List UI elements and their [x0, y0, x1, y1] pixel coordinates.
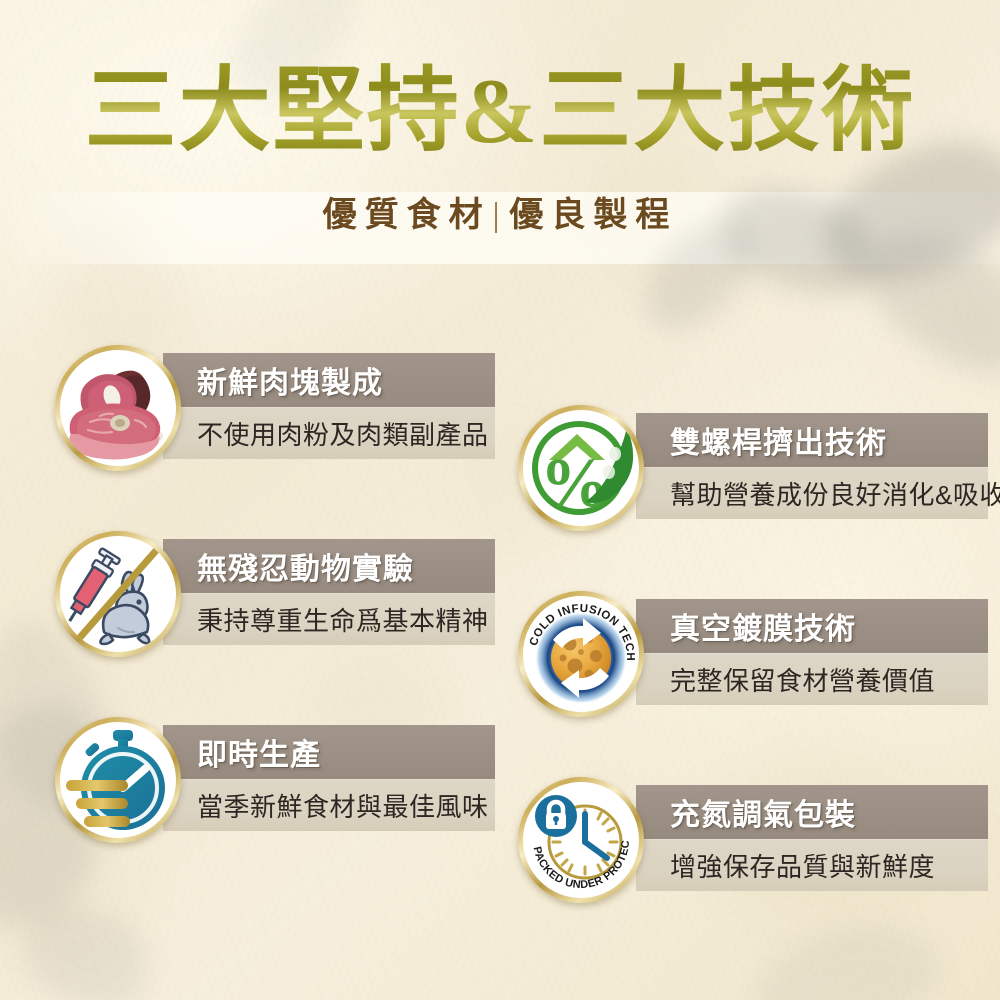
feature-text-bars: 雙螺桿擠出技術 幫助營養成份良好消化&吸收 [636, 413, 988, 519]
feature-card[interactable]: 無殘忍動物實驗 秉持尊重生命爲基本精神 [55, 531, 507, 717]
feature-title: 即時生產 [197, 730, 321, 774]
percent-leaf-icon: % [523, 410, 639, 526]
feature-text-bars: 真空鍍膜技術 完整保留食材營養價值 [636, 599, 988, 705]
header: 三大堅持&三大技術 優質食材|優良製程 [0, 0, 1000, 236]
feature-title-bar: 新鮮肉塊製成 [163, 353, 495, 407]
feature-subtitle-bar: 不使用肉粉及肉類副產品 [163, 407, 495, 459]
feature-subtitle: 增強保存品質與新鮮度 [670, 847, 935, 884]
feature-medallion [55, 345, 181, 471]
feature-title: 新鮮肉塊製成 [197, 358, 383, 402]
feature-subtitle: 秉持尊重生命爲基本精神 [197, 601, 489, 638]
feature-subtitle: 當季新鮮食材與最佳風味 [197, 787, 489, 824]
feature-subtitle: 幫助營養成份良好消化&吸收 [670, 475, 1000, 512]
feature-subtitle-bar: 幫助營養成份良好消化&吸收 [636, 467, 988, 519]
svg-text:%: % [540, 445, 610, 522]
right-feature-column: 雙螺桿擠出技術 幫助營養成份良好消化&吸收 [518, 405, 988, 963]
feature-card[interactable]: 即時生產 當季新鮮食材與最佳風味 [55, 717, 507, 903]
no-animal-testing-icon [60, 536, 176, 652]
feature-text-bars: 無殘忍動物實驗 秉持尊重生命爲基本精神 [163, 539, 495, 645]
feature-text-bars: 新鮮肉塊製成 不使用肉粉及肉類副產品 [163, 353, 495, 459]
feature-card[interactable]: 新鮮肉塊製成 不使用肉粉及肉類副產品 [55, 345, 507, 531]
feature-title-bar: 充氮調氣包裝 [636, 785, 988, 839]
feature-title-bar: 雙螺桿擠出技術 [636, 413, 988, 467]
feature-title-bar: 真空鍍膜技術 [636, 599, 988, 653]
feature-medallion [55, 531, 181, 657]
feature-text-bars: 充氮調氣包裝 增強保存品質與新鮮度 [636, 785, 988, 891]
feature-medallion: COLD INFUSION TECHNOLOGY [518, 591, 644, 717]
page-subtitle: 優質食材|優良製程 [0, 187, 1000, 236]
feature-text-bars: 即時生產 當季新鮮食材與最佳風味 [163, 725, 495, 831]
stopwatch-fresh-production-icon [60, 722, 176, 838]
subtitle-separator: | [491, 197, 510, 234]
feature-subtitle-bar: 秉持尊重生命爲基本精神 [163, 593, 495, 645]
feature-card[interactable]: 真空鍍膜技術 完整保留食材營養價值 [518, 591, 988, 777]
feature-subtitle-bar: 當季新鮮食材與最佳風味 [163, 779, 495, 831]
protective-atmosphere-clock-icon: PACKED UNDER PROTECTIVE ATMOSPHERE [523, 782, 639, 898]
feature-medallion: PACKED UNDER PROTECTIVE ATMOSPHERE [518, 777, 644, 903]
feature-title-bar: 無殘忍動物實驗 [163, 539, 495, 593]
feature-card[interactable]: 充氮調氣包裝 增強保存品質與新鮮度 [518, 777, 988, 963]
cold-infusion-badge-icon: COLD INFUSION TECHNOLOGY [523, 596, 639, 712]
feature-title: 無殘忍動物實驗 [197, 544, 414, 588]
feature-medallion [55, 717, 181, 843]
feature-title: 雙螺桿擠出技術 [670, 418, 887, 462]
subtitle-right: 優良製程 [509, 197, 677, 234]
feature-medallion: % [518, 405, 644, 531]
feature-subtitle: 完整保留食材營養價值 [670, 661, 935, 698]
left-feature-column: 新鮮肉塊製成 不使用肉粉及肉類副產品 [55, 345, 507, 903]
page-title: 三大堅持&三大技術 [0, 62, 1000, 161]
feature-title-bar: 即時生產 [163, 725, 495, 779]
feature-subtitle: 不使用肉粉及肉類副產品 [197, 415, 489, 452]
feature-card[interactable]: 雙螺桿擠出技術 幫助營養成份良好消化&吸收 [518, 405, 988, 591]
subtitle-left: 優質食材 [323, 197, 491, 234]
feature-title: 真空鍍膜技術 [670, 604, 856, 648]
feature-title: 充氮調氣包裝 [670, 790, 856, 834]
feature-subtitle-bar: 增強保存品質與新鮮度 [636, 839, 988, 891]
feature-subtitle-bar: 完整保留食材營養價值 [636, 653, 988, 705]
fresh-meat-icon [60, 350, 176, 466]
